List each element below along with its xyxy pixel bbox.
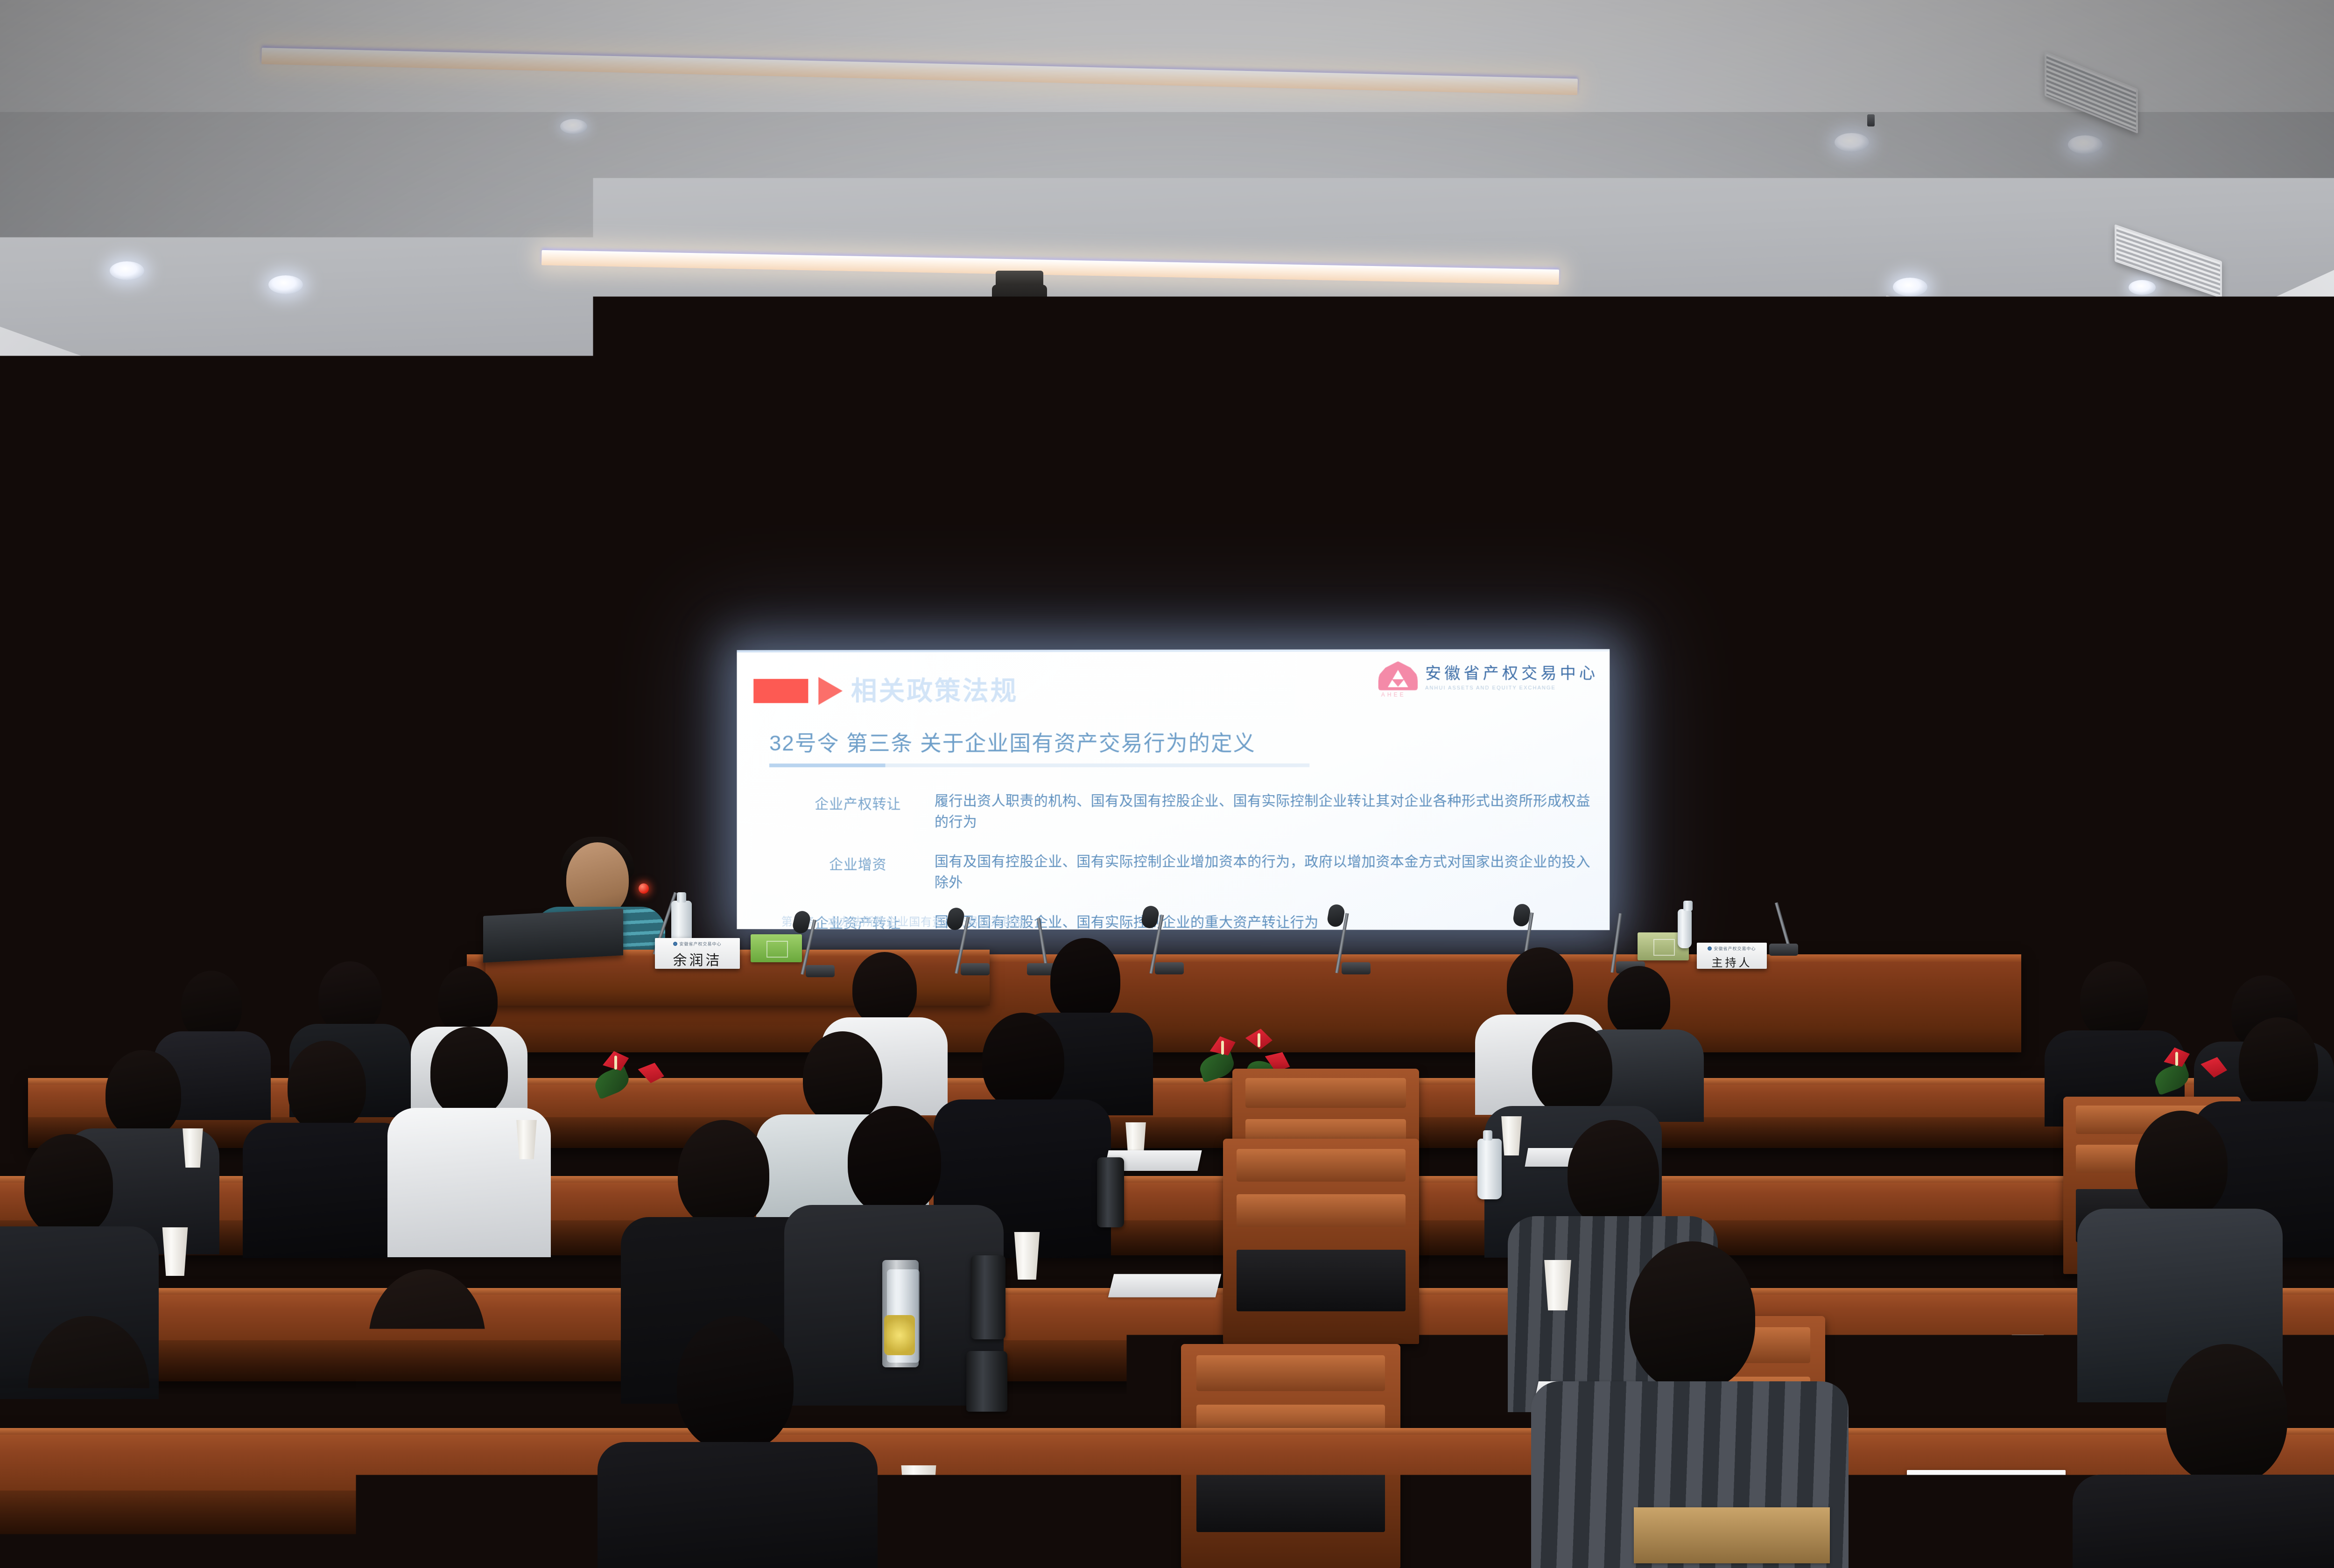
slide-row-text: 履行出资人职责的机构、国有及国有控股企业、国有实际控制企业转让其对企业各种形式出… — [935, 791, 1591, 833]
logo-name-en: ANHUI ASSETS AND EQUITY EXCHANGE — [1425, 685, 1598, 691]
potted-plant-left — [275, 793, 471, 989]
tea-bottle-foreground — [882, 1260, 919, 1367]
potted-plant-right — [1830, 793, 2017, 980]
chair — [1223, 1139, 1419, 1344]
sprinkler-head-icon — [1195, 336, 1202, 348]
downlight-icon — [1195, 485, 1222, 500]
attendee-person-foreground — [289, 1148, 626, 1568]
slide-row-label: 企业增资 — [781, 851, 935, 874]
placard-org: 安徽省产权交易中心 — [673, 941, 721, 947]
wall-speaker-right — [1793, 630, 1881, 784]
downlight-icon — [2068, 135, 2102, 154]
placard-name: 主持人 — [1712, 953, 1752, 969]
slide-row: 企业产权转让 履行出资人职责的机构、国有及国有控股企业、国有实际控制企业转让其对… — [781, 791, 1591, 833]
placard-name: 刘正开 — [1927, 1499, 2045, 1549]
attendee-person-foreground — [0, 1316, 233, 1568]
attendee-person-foreground — [598, 1316, 878, 1568]
desk-microphone-base — [1342, 962, 1371, 974]
projection-screen-rail — [728, 638, 1615, 651]
conference-room-photo: AHEE 安徽省产权交易中心 ANHUI ASSETS AND EQUITY E… — [0, 0, 2334, 1568]
host-microphone-base — [1769, 944, 1798, 956]
sprinkler-head-icon — [1867, 114, 1875, 126]
downlight-icon — [2129, 280, 2156, 295]
desk-microphone-base — [961, 963, 990, 975]
attendee-person-foreground — [2073, 1344, 2334, 1568]
slide-footnote: 第三条 本办法所称企业国有资产交易行为包括： — [781, 912, 1586, 931]
slide-top-rule — [737, 649, 1610, 652]
downlight-icon — [1575, 486, 1603, 501]
logo-name-cn: 安徽省产权交易中心 — [1425, 660, 1598, 684]
desk-microphone-base — [1155, 962, 1184, 974]
slide-definition-list: 企业产权转让 履行出资人职责的机构、国有及国有控股企业、国有实际控制企业转让其对… — [781, 791, 1591, 930]
sprinkler-head-icon — [368, 469, 375, 481]
placard-name: 余润洁 — [673, 949, 722, 969]
water-bottle — [1477, 1139, 1502, 1199]
slide-header-bar — [753, 679, 808, 703]
exchange-logo-mark-icon: AHEE — [1378, 661, 1418, 690]
downlight-icon — [560, 119, 587, 134]
flower-arrangement — [593, 1041, 682, 1115]
placard-logo-icon — [673, 942, 677, 946]
microphone-active-indicator — [639, 883, 649, 894]
desk-tin — [966, 1351, 1007, 1412]
slide-row-label: 企业产权转让 — [781, 791, 935, 813]
water-bottle — [1678, 909, 1692, 948]
downlight-icon — [794, 490, 821, 505]
slide-header-arrow-icon — [818, 677, 843, 705]
projection-screen: AHEE 安徽省产权交易中心 ANHUI ASSETS AND EQUITY E… — [737, 649, 1610, 930]
speaker-name-placard: 安徽省产权交易中心 余润洁 — [655, 938, 740, 969]
host-name-placard: 安徽省产权交易中心 主持人 — [1697, 943, 1767, 969]
placard-logo-icon — [1708, 946, 1712, 951]
presentation-slide: AHEE 安徽省产权交易中心 ANHUI ASSETS AND EQUITY E… — [737, 649, 1610, 930]
tissue-box — [751, 934, 802, 962]
downlight-icon — [1835, 133, 1869, 152]
downlight-icon — [110, 261, 144, 280]
slide-row: 企业增资 国有及国有控股企业、国有实际控制企业增加资本的行为，政府以增加资本金方… — [781, 851, 1591, 894]
downlight-icon — [1643, 406, 1678, 425]
placard-org: 安徽省产权交易中心 — [1708, 945, 1756, 952]
wall-speaker-left — [446, 632, 534, 786]
document-folder — [1634, 1507, 1830, 1563]
downlight-icon — [509, 401, 543, 420]
slide-subtitle: 32号令 第三条 关于企业国有资产交易行为的定义 — [769, 726, 1591, 757]
downlight-icon — [1788, 383, 1815, 398]
slide-logo: AHEE 安徽省产权交易中心 ANHUI ASSETS AND EQUITY E… — [1378, 660, 1598, 691]
attendee-name-placard: 安徽省生态环境产业集团 刘正开 — [1907, 1470, 2066, 1563]
placard-org: 安徽省生态环境产业集团 — [1937, 1477, 2035, 1489]
placard-logo-icon — [1937, 1479, 1946, 1487]
logo-abbr: AHEE — [1381, 691, 1406, 698]
wall-framed-picture — [2236, 625, 2334, 779]
slide-underline — [769, 763, 1309, 767]
dome-security-camera-icon — [992, 271, 1047, 345]
downlight-icon — [658, 411, 685, 426]
downlight-icon — [1893, 278, 1927, 296]
presenter-laptop — [483, 909, 623, 963]
document-sheet — [1108, 1274, 1221, 1297]
downlight-icon — [268, 275, 303, 294]
vacuum-flask — [971, 1255, 1005, 1339]
slide-header-title: 相关政策法规 — [851, 678, 1019, 704]
slide-row-text: 国有及国有控股企业、国有实际控制企业增加资本的行为，政府以增加资本金方式对国家出… — [935, 851, 1591, 894]
vacuum-flask — [1097, 1157, 1124, 1227]
